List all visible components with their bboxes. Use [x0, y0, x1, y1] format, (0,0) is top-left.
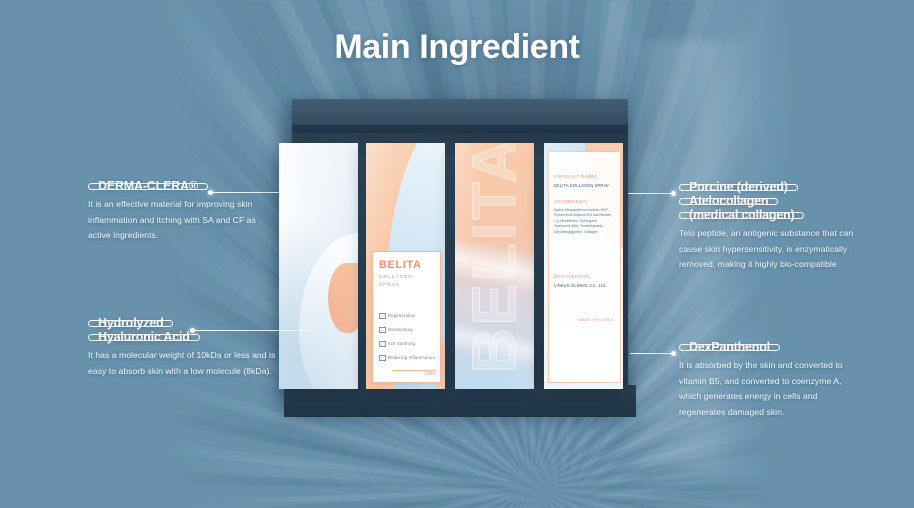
- ingredient-pill-porcine: Porcine (derived): [679, 184, 798, 191]
- ingredient-pill-derma-clera: DERMA-CLERA®: [88, 183, 208, 190]
- box4-sheen: [544, 143, 623, 389]
- ingredient-description-porcine: Telo peptide, an antigenic substance tha…: [679, 226, 861, 273]
- ingredient-label-row: (medical collagen): [679, 212, 861, 223]
- ingredient-pill-medical-collagen: (medical collagen): [679, 212, 804, 219]
- product-box-3: BELITA: [455, 143, 534, 389]
- page-title: Main Ingredient: [0, 28, 914, 67]
- box2-sheen: [366, 143, 445, 389]
- ingredient-block-dexpanthenol: DexPanthenol It is absorbed by the skin …: [679, 344, 861, 421]
- slide-canvas: Main Ingredient BELITA COLLAGEN SPRAY ✓R…: [0, 0, 914, 508]
- ingredient-pill-hyaluronic-acid: Hyaluronic Acid: [88, 334, 200, 341]
- ingredient-block-hyaluronic: Hydrolyzed Hyaluronic Acid It has a mole…: [88, 320, 278, 379]
- product-box-4: [PRODUCT NAME] BELITA COLLAGEN SPRAY [IN…: [544, 143, 623, 389]
- box3-sheen: [455, 143, 534, 389]
- ingredient-block-porcine: Porcine (derived) Atelocollagen (medical…: [679, 184, 861, 273]
- ingredient-pill-dexpanthenol: DexPanthenol: [679, 344, 780, 351]
- product-box-1: [279, 143, 358, 389]
- ingredient-description-dexpanthenol: It is absorbed by the skin and converted…: [679, 358, 861, 421]
- ingredient-description-derma-clera: It is an effective material for improvin…: [88, 197, 278, 244]
- ingredient-label-row: DexPanthenol: [679, 344, 861, 355]
- ingredient-description-hyaluronic: It has a molecular weight of 10kDa or le…: [88, 348, 278, 379]
- ingredient-pill-atelocollagen: Atelocollagen: [679, 198, 778, 205]
- ingredient-label-row: Hyaluronic Acid: [88, 334, 278, 345]
- background-vignette-left: [0, 0, 300, 508]
- ingredient-block-derma-clera: DERMA-CLERA® It is an effective material…: [88, 183, 278, 244]
- connector-dot-dexpanthenol: [671, 351, 676, 356]
- connector-dot-porcine: [671, 191, 676, 196]
- ingredient-pill-hydrolyzed: Hydrolyzed: [88, 320, 173, 327]
- connector-line-dexpanthenol: [630, 353, 674, 354]
- display-panel-ledge: [284, 385, 636, 417]
- box1-sheen: [279, 143, 358, 389]
- connector-line-porcine: [628, 193, 674, 194]
- product-box-2: BELITA COLLAGEN SPRAY ✓Regeneration ✓Moi…: [366, 143, 445, 389]
- ingredient-label-row: DERMA-CLERA®: [88, 183, 278, 194]
